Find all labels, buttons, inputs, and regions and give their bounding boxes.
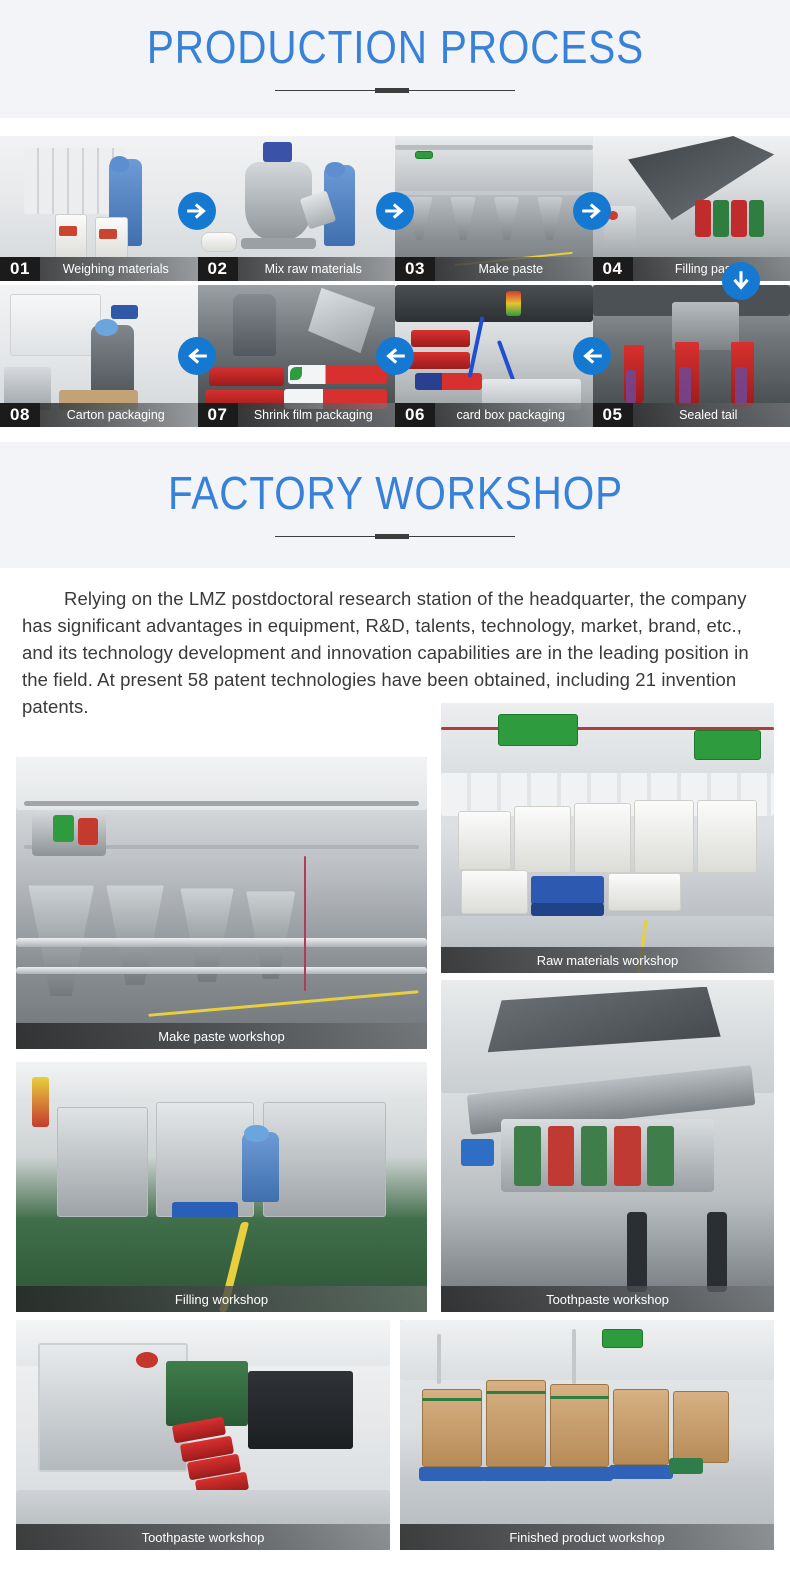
process-step-03[interactable]: 03 Make paste bbox=[395, 136, 593, 281]
process-step-05-label: Sealed tail bbox=[633, 403, 790, 427]
photo-finished-product-image bbox=[400, 1320, 774, 1550]
factory-workshop-banner: FACTORY WORKSHOP bbox=[0, 442, 790, 568]
arrow-right-icon bbox=[384, 200, 406, 222]
process-step-03-caption: 03 Make paste bbox=[395, 257, 593, 281]
process-step-07-number: 07 bbox=[198, 403, 238, 427]
process-row-bottom: 08 Carton packaging 07 Shrink film packa… bbox=[0, 285, 790, 427]
arrow-down-icon bbox=[730, 270, 752, 292]
photo-toothpaste-right-image bbox=[441, 980, 774, 1312]
workshop-description: Relying on the LMZ postdoctoral research… bbox=[22, 585, 774, 720]
process-step-01-caption: 01 Weighing materials bbox=[0, 257, 198, 281]
process-step-01[interactable]: 01 Weighing materials bbox=[0, 136, 198, 281]
photo-toothpaste-workshop-bottom[interactable]: Toothpaste workshop bbox=[16, 1320, 390, 1550]
process-step-02-label: Mix raw materials bbox=[238, 257, 396, 281]
arrow-left-icon bbox=[581, 345, 603, 367]
process-step-08-caption: 08 Carton packaging bbox=[0, 403, 198, 427]
process-step-04-number: 04 bbox=[593, 257, 633, 281]
process-step-06-caption: 06 card box packaging bbox=[395, 403, 593, 427]
title-divider-production bbox=[275, 85, 515, 95]
production-process-grid: 01 Weighing materials 02 Mix raw materia… bbox=[0, 136, 790, 427]
photo-filling-caption: Filling workshop bbox=[16, 1286, 427, 1312]
photo-make-paste-workshop[interactable]: Make paste workshop bbox=[16, 757, 427, 1049]
process-step-05-number: 05 bbox=[593, 403, 633, 427]
process-step-01-label: Weighing materials bbox=[40, 257, 198, 281]
production-process-banner: PRODUCTION PROCESS bbox=[0, 0, 790, 118]
process-step-07[interactable]: 07 Shrink film packaging bbox=[198, 285, 396, 427]
photo-toothpaste-bottom-caption: Toothpaste workshop bbox=[16, 1524, 390, 1550]
photo-make-paste-caption: Make paste workshop bbox=[16, 1023, 427, 1049]
photo-finished-product-caption: Finished product workshop bbox=[400, 1524, 774, 1550]
arrow-right-01-02 bbox=[178, 192, 216, 230]
process-step-02-caption: 02 Mix raw materials bbox=[198, 257, 396, 281]
arrow-right-icon bbox=[581, 200, 603, 222]
photo-raw-materials-workshop[interactable]: Raw materials workshop bbox=[441, 703, 774, 973]
photo-raw-materials-caption: Raw materials workshop bbox=[441, 947, 774, 973]
arrow-down-04-05 bbox=[722, 262, 760, 300]
process-step-06[interactable]: 06 card box packaging bbox=[395, 285, 593, 427]
process-step-08-number: 08 bbox=[0, 403, 40, 427]
process-step-08-label: Carton packaging bbox=[40, 403, 198, 427]
arrow-right-icon bbox=[186, 200, 208, 222]
arrow-left-06-07 bbox=[376, 337, 414, 375]
process-step-07-label: Shrink film packaging bbox=[238, 403, 396, 427]
process-row-top: 01 Weighing materials 02 Mix raw materia… bbox=[0, 136, 790, 281]
title-divider-workshop bbox=[275, 531, 515, 541]
arrow-left-07-08 bbox=[178, 337, 216, 375]
arrow-left-icon bbox=[384, 345, 406, 367]
process-step-05[interactable]: 05 Sealed tail bbox=[593, 285, 790, 427]
arrow-left-icon bbox=[186, 345, 208, 367]
photo-filling-workshop[interactable]: Filling workshop bbox=[16, 1062, 427, 1312]
arrow-right-03-04 bbox=[573, 192, 611, 230]
process-step-02[interactable]: 02 Mix raw materials bbox=[198, 136, 396, 281]
photo-finished-product-workshop[interactable]: Finished product workshop bbox=[400, 1320, 774, 1550]
page-title-production-process: PRODUCTION PROCESS bbox=[146, 23, 643, 71]
process-step-06-label: card box packaging bbox=[435, 403, 593, 427]
process-step-07-caption: 07 Shrink film packaging bbox=[198, 403, 396, 427]
photo-toothpaste-workshop-right[interactable]: Toothpaste workshop bbox=[441, 980, 774, 1312]
photo-filling-image bbox=[16, 1062, 427, 1312]
photo-toothpaste-bottom-image bbox=[16, 1320, 390, 1550]
photo-toothpaste-right-caption: Toothpaste workshop bbox=[441, 1286, 774, 1312]
process-step-06-number: 06 bbox=[395, 403, 435, 427]
process-step-04-caption: 04 Filling paste bbox=[593, 257, 790, 281]
divider-accent bbox=[375, 88, 409, 93]
arrow-right-02-03 bbox=[376, 192, 414, 230]
divider-accent bbox=[375, 534, 409, 539]
arrow-left-05-06 bbox=[573, 337, 611, 375]
page-root: PRODUCTION PROCESS 01 W bbox=[0, 0, 790, 1577]
page-title-factory-workshop: FACTORY WORKSHOP bbox=[168, 469, 623, 517]
process-step-05-caption: 05 Sealed tail bbox=[593, 403, 790, 427]
process-step-03-label: Make paste bbox=[435, 257, 593, 281]
process-step-02-number: 02 bbox=[198, 257, 238, 281]
process-step-03-number: 03 bbox=[395, 257, 435, 281]
process-step-04-label: Filling paste bbox=[633, 257, 790, 281]
photo-raw-materials-image bbox=[441, 703, 774, 973]
process-step-04[interactable]: 04 Filling paste bbox=[593, 136, 790, 281]
process-step-01-number: 01 bbox=[0, 257, 40, 281]
process-step-08[interactable]: 08 Carton packaging bbox=[0, 285, 198, 427]
photo-make-paste-image bbox=[16, 757, 427, 1049]
